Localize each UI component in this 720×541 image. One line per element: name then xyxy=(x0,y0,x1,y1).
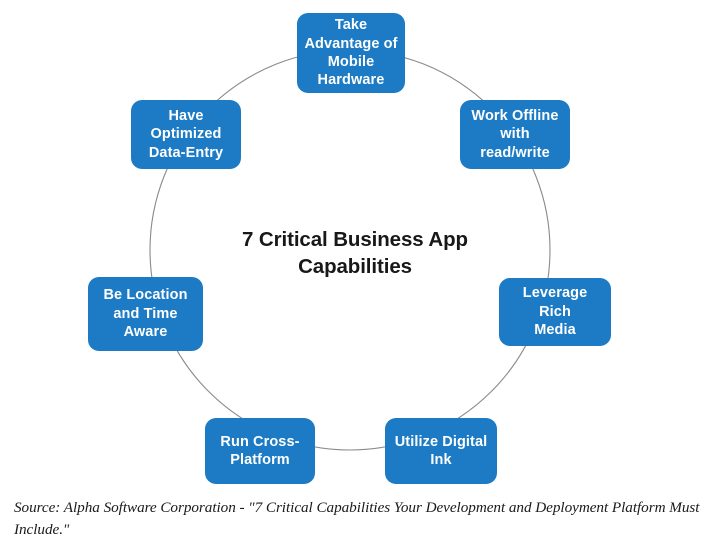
diagram-center-title: 7 Critical Business App Capabilities xyxy=(190,226,520,281)
node-label: Leverage Rich Media xyxy=(505,284,605,339)
center-title-line-1: 7 Critical Business App xyxy=(190,226,520,253)
cycle-diagram: Take Advantage of Mobile Hardware Work O… xyxy=(0,0,720,492)
node-be-location-and-time-aware[interactable]: Be Location and Time Aware xyxy=(88,277,203,351)
node-take-advantage-of-mobile-hardware[interactable]: Take Advantage of Mobile Hardware xyxy=(297,13,405,93)
node-work-offline-with-read-write[interactable]: Work Offline with read/write xyxy=(460,100,570,169)
node-label: Utilize Digital Ink xyxy=(391,433,491,470)
node-label: Have Optimized Data-Entry xyxy=(137,107,235,162)
node-label: Take Advantage of Mobile Hardware xyxy=(303,16,399,90)
node-utilize-digital-ink[interactable]: Utilize Digital Ink xyxy=(385,418,497,484)
node-label: Be Location and Time Aware xyxy=(94,286,197,341)
node-have-optimized-data-entry[interactable]: Have Optimized Data-Entry xyxy=(131,100,241,169)
center-title-line-2: Capabilities xyxy=(190,253,520,280)
node-leverage-rich-media[interactable]: Leverage Rich Media xyxy=(499,278,611,346)
node-run-cross-platform[interactable]: Run Cross- Platform xyxy=(205,418,315,484)
source-caption: Source: Alpha Software Corporation - "7 … xyxy=(14,497,708,541)
node-label: Run Cross- Platform xyxy=(211,433,309,470)
node-label: Work Offline with read/write xyxy=(466,107,564,162)
